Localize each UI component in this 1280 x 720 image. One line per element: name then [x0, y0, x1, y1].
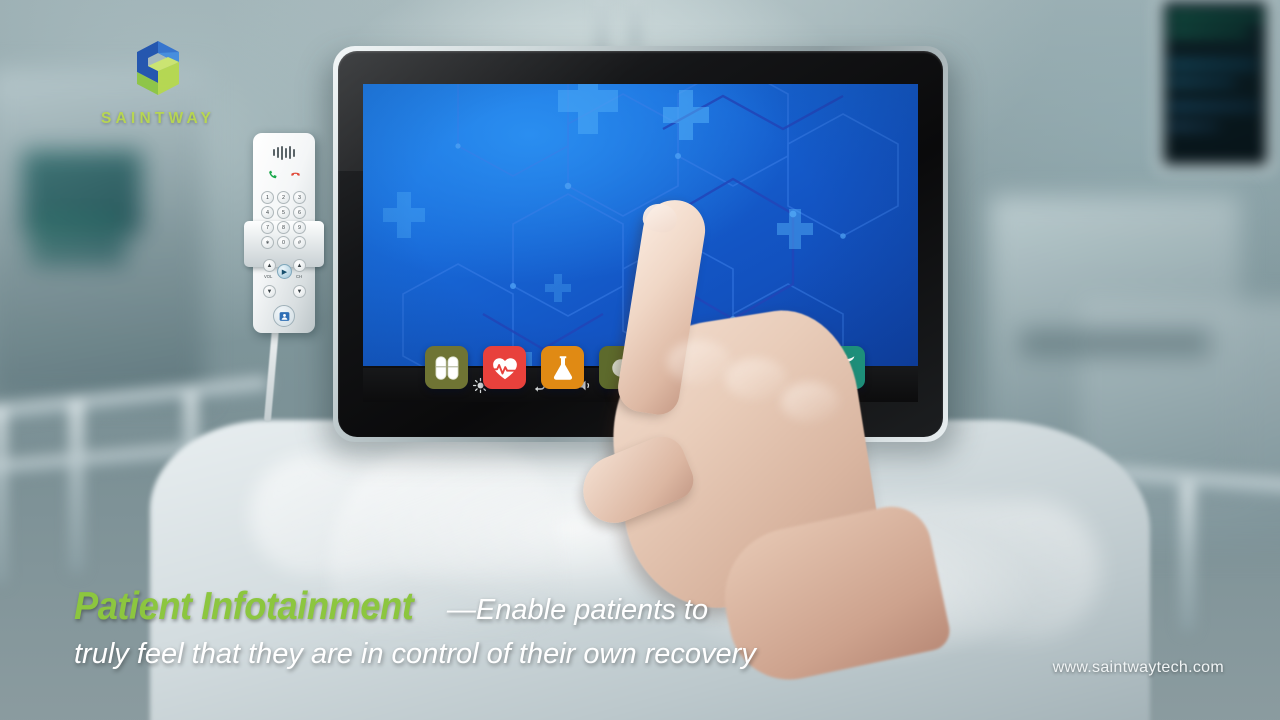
- key-4[interactable]: 4: [261, 206, 274, 219]
- key-2[interactable]: 2: [277, 191, 290, 204]
- key-star[interactable]: ∗: [261, 236, 274, 249]
- phone-hangup-icon: [290, 169, 301, 180]
- patient-hand: [575, 190, 905, 610]
- call-accept-button[interactable]: [267, 168, 280, 181]
- key-hash[interactable]: #: [293, 236, 306, 249]
- key-3[interactable]: 3: [293, 191, 306, 204]
- pills-icon: [432, 353, 462, 383]
- key-9[interactable]: 9: [293, 221, 306, 234]
- phone-icon: [268, 169, 279, 180]
- caption-line-2: truly feel that they are in control of t…: [74, 638, 974, 671]
- handset-keypad[interactable]: 1 2 3 4 5 6 7 8 9 ∗ 0 #: [261, 191, 307, 249]
- channel-up-key[interactable]: ▲: [293, 259, 306, 272]
- volume-down-key[interactable]: ▼: [263, 285, 276, 298]
- call-end-button[interactable]: [289, 168, 302, 181]
- vitals-app[interactable]: [483, 346, 526, 389]
- nurse-call-icon: [278, 310, 291, 323]
- caption-block: Patient Infotainment —Enable patients to…: [74, 584, 974, 671]
- nurse-call-handset[interactable]: 1 2 3 4 5 6 7 8 9 ∗ 0 # ▲ ▼ VOL ▲ ▼ CH ▶: [253, 133, 315, 333]
- caption-rest: —Enable patients to: [439, 594, 708, 626]
- nurse-call-button[interactable]: [273, 305, 295, 327]
- key-0[interactable]: 0: [277, 236, 290, 249]
- saintway-cube-logo-icon: [127, 38, 189, 108]
- flask-icon: [548, 353, 578, 383]
- key-6[interactable]: 6: [293, 206, 306, 219]
- key-7[interactable]: 7: [261, 221, 274, 234]
- medication-app[interactable]: [425, 346, 468, 389]
- saintway-logo: SAINTWAY: [78, 38, 238, 130]
- website-url[interactable]: www.saintwaytech.com: [1053, 659, 1224, 677]
- key-1[interactable]: 1: [261, 191, 274, 204]
- play-button[interactable]: ▶: [277, 264, 292, 279]
- logo-wordmark: SAINTWAY: [78, 110, 238, 128]
- heart-pulse-icon: [490, 353, 520, 383]
- volume-up-key[interactable]: ▲: [263, 259, 276, 272]
- caption-highlight: Patient Infotainment: [74, 584, 413, 630]
- key-8[interactable]: 8: [277, 221, 290, 234]
- key-5[interactable]: 5: [277, 206, 290, 219]
- channel-down-key[interactable]: ▼: [293, 285, 306, 298]
- volume-label: VOL: [264, 274, 272, 279]
- caption-line-1: Patient Infotainment —Enable patients to: [74, 584, 974, 630]
- channel-label: CH: [296, 274, 302, 279]
- speaker-grille-icon: [266, 145, 302, 160]
- promotional-image: 1 2 3 4 5 6 7 8 9 ∗ 0 # ▲ ▼ VOL ▲ ▼ CH ▶: [0, 0, 1280, 720]
